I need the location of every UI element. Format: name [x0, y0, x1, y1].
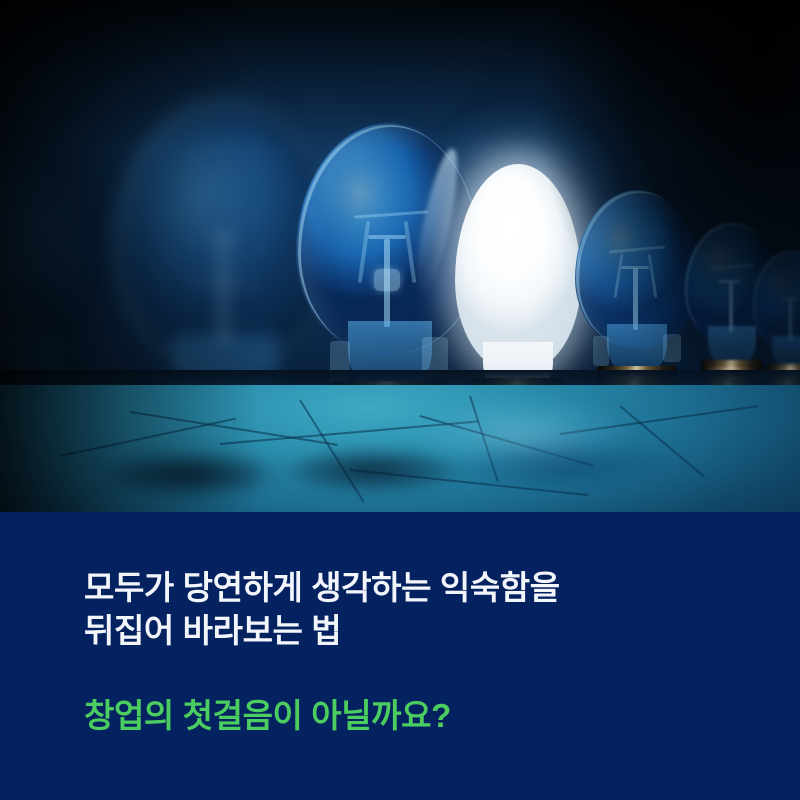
cracked-floor — [0, 385, 800, 512]
text-panel — [0, 512, 800, 800]
headline-text: 모두가 당연하게 생각하는 익숙함을 뒤집어 바라보는 법 — [84, 566, 744, 652]
subline-text: 창업의 첫걸음이 아닐까요? — [84, 694, 744, 737]
bulb-center-left-filament-coil — [374, 269, 400, 291]
promo-card: 모두가 당연하게 생각하는 익숙함을 뒤집어 바라보는 법 창업의 첫걸음이 아… — [0, 0, 800, 800]
bulb-highlighted-glass — [455, 164, 581, 372]
lightbulb-photo — [0, 0, 800, 512]
